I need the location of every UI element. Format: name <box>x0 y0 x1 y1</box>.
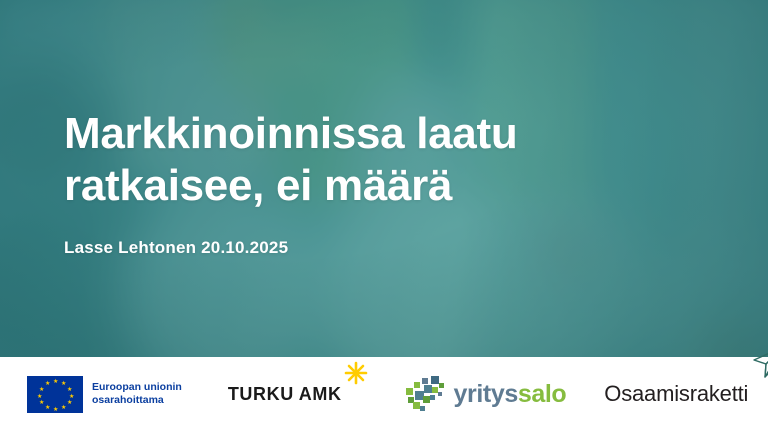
slide-subtitle: Lasse Lehtonen 20.10.2025 <box>64 238 724 258</box>
yrityssalo-mosaic-icon <box>404 374 448 414</box>
logo-osaamisraketti: Osaamisraketti <box>604 357 748 431</box>
yrityssalo-label-part2: salo <box>518 380 566 408</box>
hero-image-area: Markkinoinnissa laatu ratkaisee, ei määr… <box>0 0 768 357</box>
yrityssalo-label-part1: yritys <box>454 380 518 408</box>
osaamisraketti-label: Osaamisraketti <box>604 381 748 407</box>
presentation-slide: Markkinoinnissa laatu ratkaisee, ei määr… <box>0 0 768 431</box>
yrityssalo-label: yrityssalo <box>454 380 567 409</box>
logo-turku-amk: TURKU AMK <box>228 357 342 431</box>
logo-european-union: ★ ★ ★ ★ ★ ★ ★ ★ ★ ★ ★ ★ Euroopan unionin… <box>27 357 182 431</box>
turku-amk-label: TURKU AMK <box>228 384 342 405</box>
paper-plane-icon <box>750 345 768 379</box>
title-block: Markkinoinnissa laatu ratkaisee, ei määr… <box>64 108 724 258</box>
logo-bar: ★ ★ ★ ★ ★ ★ ★ ★ ★ ★ ★ ★ Euroopan unionin… <box>0 357 768 431</box>
logo-yrityssalo: yrityssalo <box>404 357 567 431</box>
page-title: Markkinoinnissa laatu ratkaisee, ei määr… <box>64 108 724 212</box>
starburst-icon <box>344 361 368 385</box>
eu-funding-label: Euroopan unionin osarahoittama <box>92 381 182 407</box>
eu-flag-icon: ★ ★ ★ ★ ★ ★ ★ ★ ★ ★ ★ ★ <box>27 376 83 413</box>
